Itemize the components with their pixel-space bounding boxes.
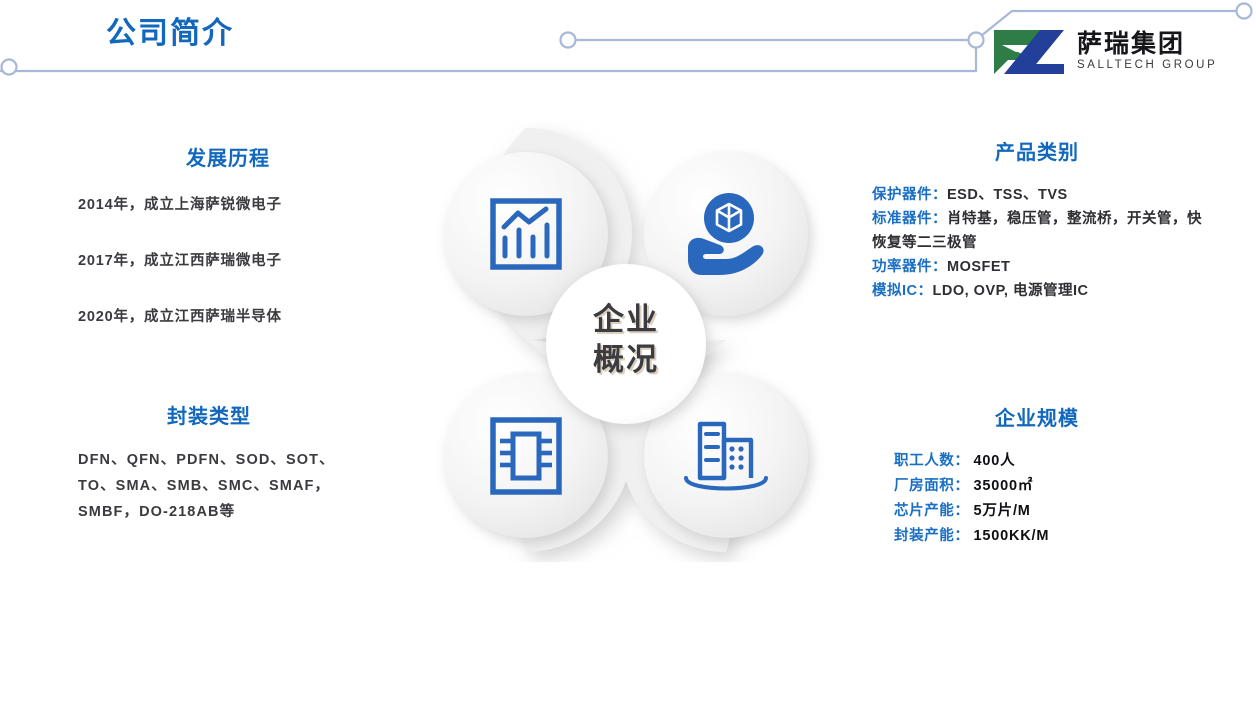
logo-name-en: SALLTECH GROUP [1077, 60, 1217, 72]
panel-development-history: 发展历程 2014年，成立上海萨锐微电子 2017年，成立江西萨瑞微电子 202… [78, 142, 378, 326]
product-value: LDO, OVP, 电源管理IC [933, 283, 1089, 299]
history-item: 2014年，成立上海萨锐微电子 [78, 193, 378, 214]
scale-label: 职工人数： [894, 449, 970, 474]
product-row: 保护器件：ESD、TSS、TVS [872, 183, 1202, 207]
package-types-text: DFN、QFN、PDFN、SOD、SOT、TO、SMA、SMB、SMC、SMAF… [78, 447, 340, 525]
panel-company-scale: 企业规模 职工人数： 400人 厂房面积： 35000㎡ 芯片产能： 5万片/M… [872, 402, 1202, 549]
product-row: 功率器件：MOSFET [872, 255, 1202, 279]
company-logo: 萨瑞集团 SALLTECH GROUP [988, 26, 1238, 78]
product-value: ESD、TSS、TVS [947, 187, 1068, 203]
scale-row: 职工人数： 400人 [872, 449, 1202, 474]
product-label: 模拟IC： [872, 283, 933, 299]
history-item: 2017年，成立江西萨瑞微电子 [78, 249, 378, 270]
page-title: 公司简介 [106, 8, 234, 52]
scale-row: 厂房面积： 35000㎡ [872, 474, 1202, 499]
scale-label: 厂房面积： [894, 474, 970, 499]
panel-title-products: 产品类别 [872, 136, 1202, 165]
logo-name-cn: 萨瑞集团 [1077, 32, 1217, 57]
product-label: 保护器件： [872, 187, 947, 203]
salltech-logo-mark [988, 28, 1068, 76]
panel-package-types: 封装类型 DFN、QFN、PDFN、SOD、SOT、TO、SMA、SMB、SMC… [78, 400, 340, 525]
product-label: 标准器件： [872, 211, 947, 227]
history-item: 2020年，成立江西萨瑞半导体 [78, 305, 378, 326]
diagram-center-node [546, 264, 706, 424]
panel-product-categories: 产品类别 保护器件：ESD、TSS、TVS 标准器件：肖特基，稳压管，整流桥，开… [872, 136, 1202, 303]
panel-title-history: 发展历程 [78, 142, 378, 171]
scale-row: 封装产能： 1500KK/M [872, 524, 1202, 549]
scale-row: 芯片产能： 5万片/M [872, 499, 1202, 524]
product-label: 功率器件： [872, 259, 947, 275]
product-row: 模拟IC：LDO, OVP, 电源管理IC [872, 279, 1202, 303]
scale-value: 400人 [974, 449, 1016, 474]
company-overview-diagram: 企业 概况 [410, 118, 842, 562]
product-value: MOSFET [947, 259, 1010, 275]
scale-value: 35000㎡ [974, 474, 1034, 499]
scale-label: 芯片产能： [894, 499, 970, 524]
product-row: 标准器件：肖特基，稳压管，整流桥，开关管，快恢复等二三极管 [872, 207, 1202, 255]
scale-label: 封装产能： [894, 524, 970, 549]
panel-title-scale: 企业规模 [872, 402, 1202, 431]
scale-value: 1500KK/M [974, 524, 1050, 549]
panel-title-package: 封装类型 [78, 400, 340, 429]
scale-value: 5万片/M [974, 499, 1031, 524]
